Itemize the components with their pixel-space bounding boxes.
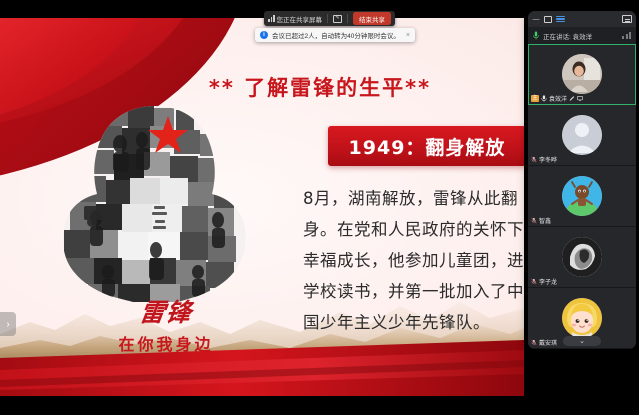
participant-tile[interactable]: 戴安琪 ⌄ — [528, 288, 636, 349]
microphone-muted-icon — [531, 339, 537, 346]
active-speaker-label: 正在讲话: 袁效洋 — [543, 31, 592, 41]
signal-bars-icon — [268, 15, 275, 22]
meeting-limit-toast: i 会议已超过2人，自动转为40分钟限时会议。 × — [255, 28, 415, 42]
active-speaker-bar: 正在讲话: 袁效洋 — [528, 27, 636, 44]
avatar — [562, 176, 602, 216]
microphone-muted-icon — [531, 156, 537, 163]
participant-name: 智鑫 — [539, 216, 551, 225]
restore-icon[interactable] — [544, 16, 552, 23]
list-view-icon[interactable] — [556, 15, 565, 23]
microphone-icon — [541, 95, 547, 102]
collapse-panel-button[interactable]: ⌄ — [563, 336, 601, 346]
year-banner: 1949：翻身解放 — [328, 126, 524, 166]
shared-screen-slide: ** 了解雷锋的生平** 1949：翻身解放 8月，湖南解放，雷锋从此翻身。在党… — [0, 18, 524, 396]
chevron-right-icon: › — [6, 319, 9, 330]
host-badge: 主 — [531, 95, 539, 102]
minimize-icon[interactable]: — — [532, 15, 540, 23]
bottom-red-ribbon — [0, 340, 524, 396]
microphone-muted-icon — [531, 217, 537, 224]
calligraphy-sub-text: 在你我身边 — [104, 331, 228, 355]
microphone-muted-icon — [531, 278, 537, 285]
calligraphy-block: 雷锋 在你我身边 — [104, 300, 228, 355]
app-root: ** 了解雷锋的生平** 1949：翻身解放 8月，湖南解放，雷锋从此翻身。在党… — [0, 0, 639, 415]
window-controls: — — [532, 15, 565, 23]
participant-name: 李子龙 — [539, 277, 557, 286]
tile-footer: 李子龙 — [528, 276, 636, 287]
participant-tiles: 主 袁效洋 — [528, 44, 636, 349]
participant-tile[interactable]: 主 袁效洋 — [528, 44, 636, 105]
lei-feng-photo-collage — [58, 100, 253, 305]
screen-share-icon — [577, 95, 583, 102]
participant-name: 戴安琪 — [539, 338, 557, 347]
signal-strength-icon — [622, 32, 631, 39]
tile-footer: 主 袁效洋 — [528, 93, 636, 104]
participants-panel: — 正在讲话: 袁效洋 — [528, 11, 636, 349]
screen-share-toolbar: 您正在共享屏幕 ✎ 结束共享 — [264, 11, 395, 26]
end-share-button[interactable]: 结束共享 — [353, 12, 391, 25]
annotate-icon[interactable]: ✎ — [333, 15, 342, 23]
participant-tile[interactable]: 李子龙 — [528, 227, 636, 288]
toast-message: 会议已超过2人，自动转为40分钟限时会议。 — [272, 30, 400, 40]
info-icon: i — [260, 31, 268, 39]
avatar — [562, 237, 602, 277]
slide-nav-arrow[interactable]: › — [0, 312, 16, 336]
avatar — [562, 298, 602, 338]
participant-tile[interactable]: 李冬晔 — [528, 105, 636, 166]
participant-name: 袁效洋 — [549, 94, 567, 103]
participant-tile[interactable]: 智鑫 — [528, 166, 636, 227]
close-icon[interactable]: × — [404, 32, 410, 39]
tile-footer: 李冬晔 — [528, 154, 636, 165]
toolbar-divider-2 — [347, 14, 348, 23]
tile-footer: 智鑫 — [528, 215, 636, 226]
calligraphy-main-text: 雷锋 — [102, 300, 230, 325]
year-banner-text: 1949：翻身解放 — [349, 133, 506, 160]
microphone-icon — [533, 31, 539, 40]
options-icon[interactable] — [622, 15, 632, 23]
panel-titlebar: — — [528, 11, 636, 27]
slide-title: ** 了解雷锋的生平** — [150, 72, 490, 102]
share-status-label: 您正在共享屏幕 — [277, 14, 323, 24]
share-status: 您正在共享屏幕 — [268, 14, 322, 24]
participant-name: 李冬晔 — [539, 155, 557, 164]
avatar — [562, 54, 602, 94]
slide-body-text: 8月，湖南解放，雷锋从此翻身。在党和人民政府的关怀下幸福成长，他参加儿童团，进学… — [303, 183, 524, 338]
pencil-icon — [569, 95, 575, 102]
toolbar-divider — [327, 14, 328, 23]
avatar — [562, 115, 602, 155]
